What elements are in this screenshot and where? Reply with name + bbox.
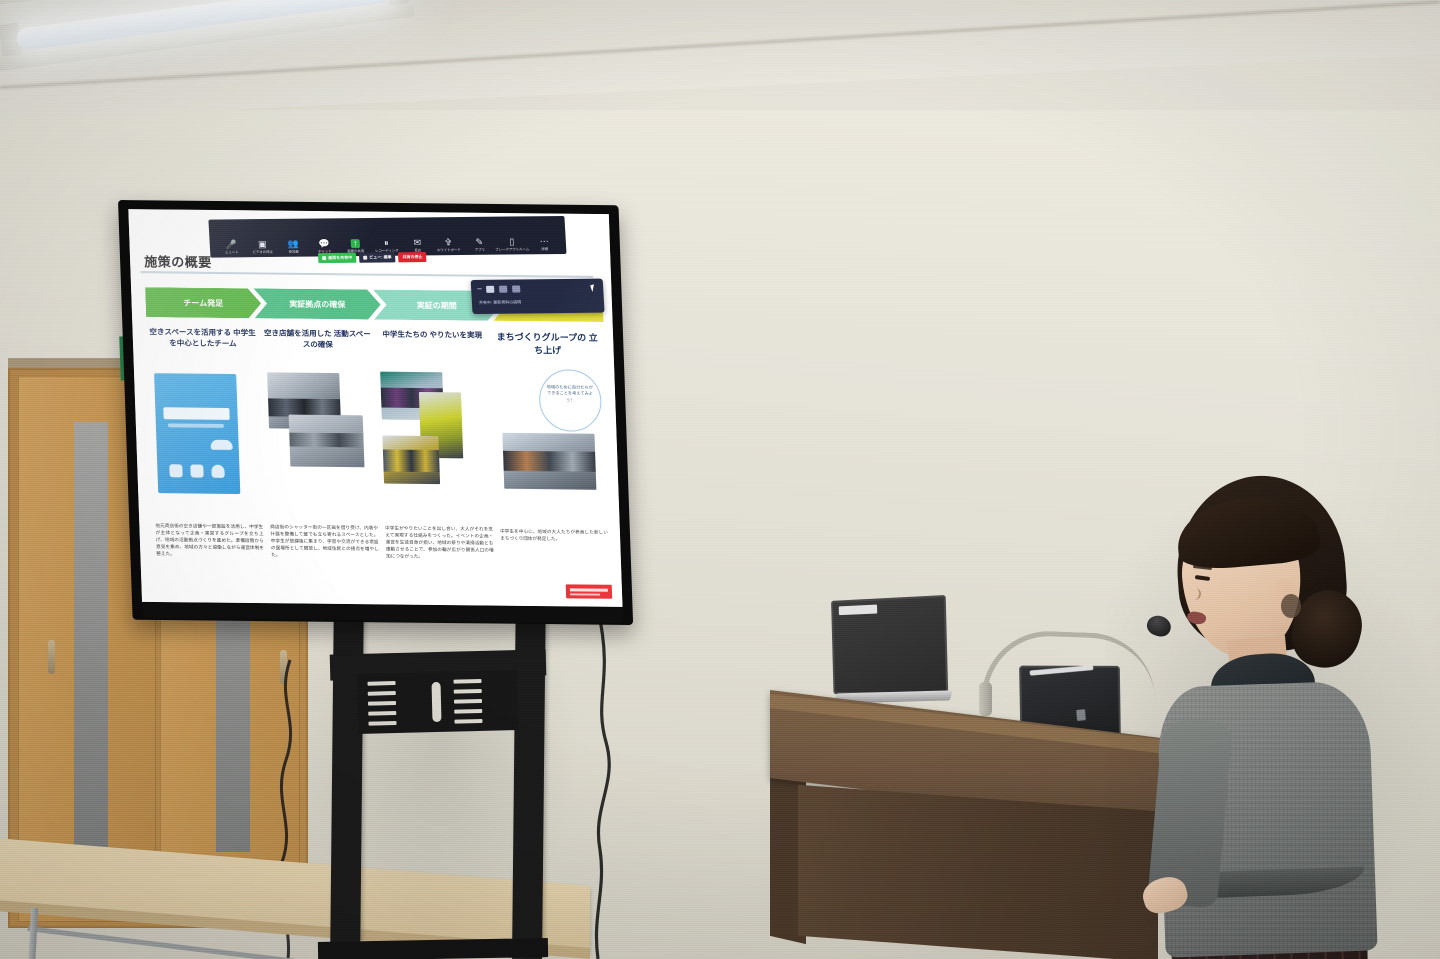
tv-stand-vent-plate — [357, 670, 518, 734]
column-body-text: 商店街のシャッター街の一区画を借り受け、内装や什器を整備して誰でも立ち寄れるスペ… — [270, 524, 379, 560]
tv-stand-post-right — [512, 582, 546, 959]
floating-share-control-bar[interactable]: – 共有中: 更新資料の説明 — [471, 279, 605, 314]
speaker-presenter — [1125, 470, 1425, 959]
reactions-icon: ✉ — [413, 238, 421, 247]
chat-icon: 💬 — [318, 239, 330, 248]
logo-card-image — [154, 373, 240, 494]
sharing-status-pill[interactable]: 画面を共有中 — [318, 253, 357, 263]
door-handle[interactable] — [280, 650, 287, 684]
slide-column-4: まちづくりグループの 立ち上げ 地域のために自分たちができることを考えてみよう！… — [493, 331, 610, 602]
pause-icon[interactable] — [486, 285, 494, 292]
toolbar-more-button[interactable]: ⋯ 詳細 — [529, 237, 561, 251]
toolbar-breakout-button[interactable]: ▯ ブレークアウトルーム — [495, 237, 530, 251]
presentation-room-photo: 施策の概要 チーム発足 実証拠点の確保 実証の期間 プロジ — [0, 0, 1440, 959]
presentation-slide: 施策の概要 チーム発足 実証拠点の確保 実証の期間 プロジ — [128, 209, 622, 607]
stop-share-button[interactable]: 共有の停止 — [398, 252, 427, 262]
meeting-status-pills: 画面を共有中 ビュー: 標準 共有の停止 — [318, 252, 427, 263]
toolbar-record-button[interactable]: ⏸ レコーディング — [371, 239, 403, 253]
toolbar-share-screen-button[interactable]: ↑ 画面の共有 — [340, 239, 372, 253]
slide-column-2: 空き店舗を活用した 活動スペースの確保 商店街のシャッター街の一区画を借り受け、… — [263, 328, 380, 599]
laptop-sticker — [839, 605, 878, 616]
record-icon: ⏸ — [384, 239, 389, 248]
column-body-text: 地元商店街の空き店舗や一部施設を活用し、中学生が主体となって企画・運営するグルー… — [155, 523, 264, 559]
column-heading: 空き店舗を活用した 活動スペースの確保 — [263, 328, 372, 353]
column-heading: まちづくりグループの 立ち上げ — [493, 331, 602, 358]
slide-column-3: 中学生たちの やりたいを実現 中学生がやりたいことを出し合い、大人がそれを支えて… — [378, 330, 495, 601]
tv-stand-foot — [318, 938, 548, 959]
whiteboard-icon: ✞ — [444, 238, 452, 247]
participants-icon: 👥 — [287, 240, 299, 249]
apps-icon: ✎ — [475, 238, 483, 247]
tv-screen[interactable]: 施策の概要 チーム発足 実証拠点の確保 実証の期間 プロジ — [128, 209, 622, 607]
more-icon: ⋯ — [540, 237, 550, 246]
meeting-control-toolbar[interactable]: 🎤 ミュート ▣ ビデオの停止 👥 参加者 💬 チャット — [208, 216, 566, 258]
cursor-icon — [590, 284, 596, 292]
slide-column-1: 空きスペースを活用する 中学生を中心としたチーム 地元商店街 — [148, 327, 265, 598]
slide-footer-logo — [566, 584, 613, 598]
toolbar-apps-button[interactable]: ✎ アプリ — [464, 238, 496, 252]
screen-share-icon: ↑ — [351, 239, 360, 248]
column-artwork — [264, 358, 377, 519]
laptop-logo-icon — [1076, 709, 1086, 721]
slide-title: 施策の概要 — [144, 251, 212, 271]
column-body-text: 中学生を中心に、地域の大人たちが参画した新しいまちづくり団体が発足した。 — [500, 529, 608, 544]
speech-bubble: 地域のために自分たちができることを考えてみよう！ — [538, 369, 602, 432]
view-dot-icon — [363, 256, 367, 260]
slide-title-rule — [140, 271, 593, 278]
column-body-text: 中学生がやりたいことを出し合い、大人がそれを支えて実現する仕組みをつくった。イベ… — [385, 525, 494, 561]
process-step-1: チーム発足 — [145, 287, 262, 318]
view-mode-pill[interactable]: ビュー: 標準 — [359, 252, 396, 262]
column-artwork — [150, 357, 263, 518]
column-heading: 中学生たちの やりたいを実現 — [378, 330, 487, 355]
minimize-icon[interactable]: – — [477, 285, 482, 293]
annotate-icon[interactable] — [499, 285, 507, 292]
note-icon: ▯ — [509, 237, 514, 246]
laptop-back[interactable] — [829, 596, 952, 703]
toolbar-whiteboard-button[interactable]: ✞ ホワイトボード — [433, 238, 465, 252]
photo-children-group — [382, 436, 440, 485]
podium-front-panel — [798, 785, 1158, 959]
microphone-icon: 🎤 — [225, 240, 237, 249]
flat-panel-tv: 施策の概要 チーム発足 実証拠点の確保 実証の期間 プロジ — [118, 200, 633, 625]
door-glass-strip — [74, 422, 108, 852]
layout-icon[interactable] — [512, 285, 520, 292]
toolbar-chat-button[interactable]: 💬 チャット — [309, 239, 341, 253]
hair-tie — [1281, 594, 1301, 618]
photo-workshop-table — [503, 433, 597, 490]
column-artwork — [379, 360, 492, 521]
slide-columns: 空きスペースを活用する 中学生を中心としたチーム 地元商店街 — [148, 327, 610, 602]
process-step-2: 実証拠点の確保 — [254, 288, 382, 319]
toolbar-video-button[interactable]: ▣ ビデオの停止 — [247, 240, 279, 254]
door-handle[interactable] — [48, 640, 55, 674]
share-dot-icon — [322, 256, 326, 260]
toolbar-reactions-button[interactable]: ✉ 反応 — [402, 238, 434, 252]
toolbar-mute-button[interactable]: 🎤 ミュート — [216, 240, 248, 254]
share-status-label: 共有中: 更新資料の説明 — [479, 299, 522, 305]
toolbar-participants-button[interactable]: 👥 参加者 — [278, 240, 310, 254]
video-camera-icon: ▣ — [258, 240, 267, 249]
column-artwork: 地域のために自分たちができることを考えてみよう！ — [494, 363, 607, 524]
column-heading: 空きスペースを活用する 中学生を中心としたチーム — [148, 327, 257, 352]
photo-storefront-interior — [288, 415, 364, 468]
